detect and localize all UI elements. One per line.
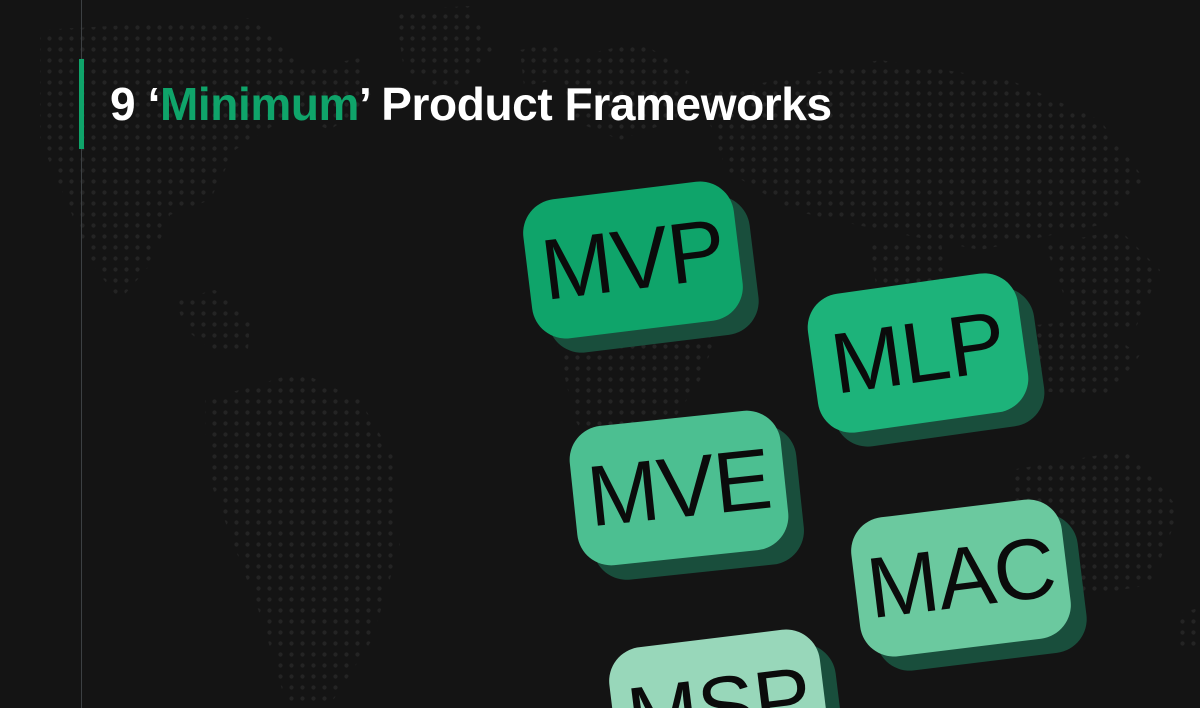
- page-title-block: 9 ‘Minimum’ Product Frameworks: [79, 59, 832, 149]
- card-label: MSP: [623, 654, 815, 708]
- page-title-suffix: ’ Product Frameworks: [359, 78, 832, 130]
- card-face: MVP: [519, 178, 746, 343]
- title-accent-bar: [79, 59, 84, 149]
- card-face: MAC: [847, 496, 1074, 661]
- page-title-highlight: Minimum: [160, 78, 359, 130]
- framework-card-mve[interactable]: MVE: [566, 407, 791, 568]
- page-title-prefix: 9 ‘: [110, 78, 160, 130]
- infographic-canvas: 9 ‘Minimum’ Product Frameworks MVP MLP M…: [0, 0, 1200, 708]
- card-face: MVE: [566, 407, 791, 568]
- card-label: MAC: [862, 524, 1059, 632]
- card-label: MLP: [826, 298, 1010, 407]
- framework-card-msp[interactable]: MSP: [605, 626, 832, 708]
- card-face: MLP: [803, 269, 1032, 437]
- framework-card-mlp[interactable]: MLP: [803, 269, 1032, 437]
- framework-card-mac[interactable]: MAC: [847, 496, 1074, 661]
- card-label: MVE: [583, 436, 774, 541]
- card-face: MSP: [605, 626, 832, 708]
- page-title: 9 ‘Minimum’ Product Frameworks: [110, 81, 832, 127]
- framework-card-mvp[interactable]: MVP: [519, 178, 746, 343]
- card-label: MVP: [537, 206, 729, 314]
